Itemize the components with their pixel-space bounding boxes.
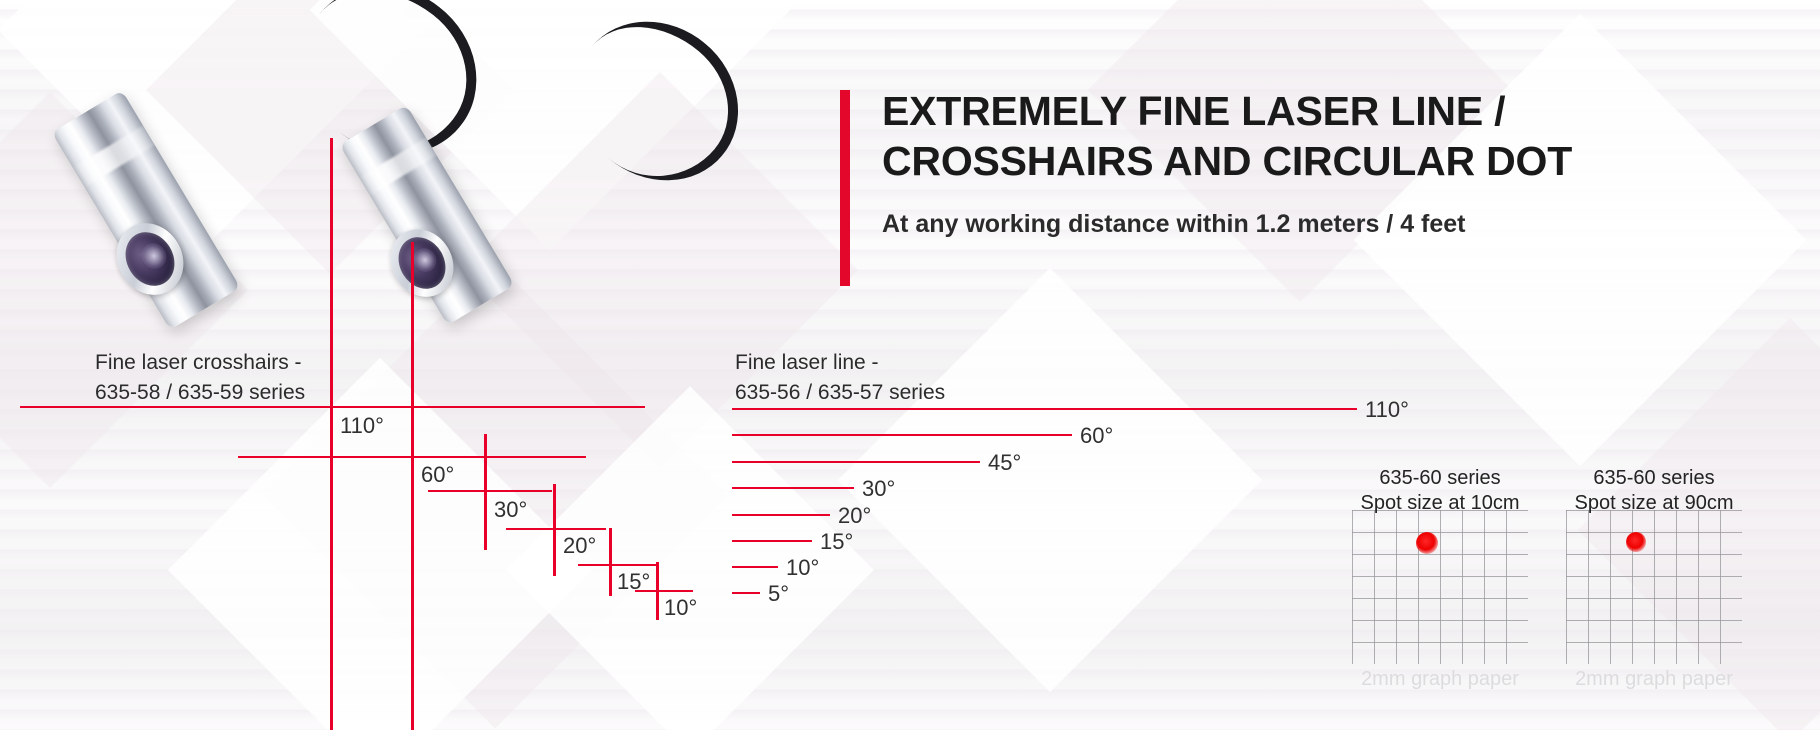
spot-panel-10cm: 635-60 series Spot size at 10cm 2mm grap… xyxy=(1352,510,1528,710)
crosshair-60-vertical xyxy=(411,242,414,730)
page-title: EXTREMELY FINE LASER LINE / CROSSHAIRS A… xyxy=(882,86,1712,186)
crosshair-label-10: 10° xyxy=(664,595,697,621)
crosshair-label-110: 110° xyxy=(340,413,384,439)
background-diamond xyxy=(838,268,1262,692)
laser-cable xyxy=(270,0,510,188)
crosshair-10-horizontal xyxy=(635,590,693,592)
line-label-110: 110° xyxy=(1365,397,1409,423)
line-label-30: 30° xyxy=(862,476,895,502)
spot-series-label: 635-60 series xyxy=(1352,466,1528,491)
line-5 xyxy=(732,592,760,594)
background-diamond xyxy=(310,0,791,250)
crosshair-diagram-title: Fine laser crosshairs - 635-58 / 635-59 … xyxy=(95,348,305,408)
crosshair-30-vertical xyxy=(484,434,487,550)
headline-line-1: EXTREMELY FINE LASER LINE / xyxy=(882,86,1712,136)
crosshair-label-30: 30° xyxy=(494,497,527,523)
crosshair-10-vertical xyxy=(656,562,659,620)
line-110 xyxy=(732,408,1357,410)
crosshair-20-vertical xyxy=(553,484,556,576)
laser-spot-dot xyxy=(1626,532,1646,552)
background-diamond xyxy=(1354,14,1807,467)
crosshair-20-horizontal xyxy=(506,528,606,530)
crosshair-label-60: 60° xyxy=(421,462,454,488)
line-label-10: 10° xyxy=(786,555,819,581)
laser-spot-dot xyxy=(1416,532,1438,554)
graph-paper-grid xyxy=(1352,510,1528,664)
line-title-line-2: 635-56 / 635-57 series xyxy=(735,378,945,408)
crosshair-title-line-2: 635-58 / 635-59 series xyxy=(95,378,305,408)
headline-line-2: CROSSHAIRS AND CIRCULAR DOT xyxy=(882,136,1712,186)
line-30 xyxy=(732,487,854,489)
crosshair-15-vertical xyxy=(609,528,612,596)
laser-lens-glint xyxy=(409,244,440,276)
laser-barrel xyxy=(339,105,514,325)
spot-distance-label: Spot size at 10cm xyxy=(1352,491,1528,516)
graph-paper-grid xyxy=(1566,510,1742,664)
background-diamond xyxy=(0,0,422,242)
spot-panel-caption-10cm: 635-60 series Spot size at 10cm xyxy=(1352,466,1528,516)
crosshair-15-horizontal xyxy=(578,564,656,566)
spot-panel-footnote-10cm: 2mm graph paper xyxy=(1352,668,1528,691)
crosshair-title-line-1: Fine laser crosshairs - xyxy=(95,348,305,378)
laser-barrel xyxy=(52,90,241,329)
line-diagram-title: Fine laser line - 635-56 / 635-57 series xyxy=(735,348,945,408)
laser-cable xyxy=(544,0,771,213)
line-label-20: 20° xyxy=(838,503,871,529)
spot-series-label: 635-60 series xyxy=(1566,466,1742,491)
laser-lens-ring xyxy=(378,218,465,309)
line-45 xyxy=(732,461,980,463)
crosshair-110-vertical xyxy=(330,138,333,730)
line-20 xyxy=(732,514,830,516)
line-15 xyxy=(732,540,812,542)
laser-lens-ring xyxy=(104,211,197,307)
line-label-60: 60° xyxy=(1080,423,1113,449)
laser-lens xyxy=(116,223,184,295)
spot-distance-label: Spot size at 90cm xyxy=(1566,491,1742,516)
spot-panel-caption-90cm: 635-60 series Spot size at 90cm xyxy=(1566,466,1742,516)
accent-bar xyxy=(840,90,850,286)
line-label-15: 15° xyxy=(820,529,853,555)
crosshair-30-horizontal xyxy=(428,490,552,492)
headline-subtitle: At any working distance within 1.2 meter… xyxy=(882,210,1466,239)
line-label-45: 45° xyxy=(988,450,1021,476)
line-60 xyxy=(732,434,1072,436)
line-label-5: 5° xyxy=(768,581,789,607)
line-10 xyxy=(732,566,778,568)
laser-lens-glint xyxy=(137,239,171,274)
background-diamond xyxy=(0,92,248,488)
crosshair-label-20: 20° xyxy=(563,533,596,559)
line-title-line-1: Fine laser line - xyxy=(735,348,945,378)
spot-panel-90cm: 635-60 series Spot size at 90cm 2mm grap… xyxy=(1566,510,1742,710)
spot-panel-footnote-90cm: 2mm graph paper xyxy=(1566,668,1742,691)
laser-lens xyxy=(389,229,455,298)
product-banner: EXTREMELY FINE LASER LINE / CROSSHAIRS A… xyxy=(0,0,1820,730)
